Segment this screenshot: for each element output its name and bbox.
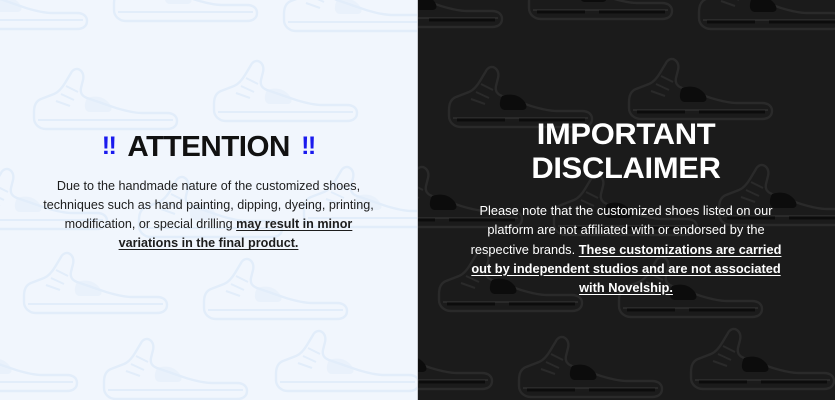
attention-body: Due to the handmade nature of the custom… — [34, 177, 383, 254]
attention-panel: ‼ ATTENTION ‼ Due to the handmade nature… — [0, 0, 417, 400]
double-exclamation-right-icon: ‼ — [301, 134, 315, 159]
attention-content: ‼ ATTENTION ‼ Due to the handmade nature… — [0, 133, 417, 254]
attention-headline-text: ATTENTION — [127, 133, 289, 162]
disclaimer-body: Please note that the customized shoes li… — [459, 201, 793, 297]
double-exclamation-left-icon: ‼ — [102, 134, 116, 159]
attention-headline: ‼ ATTENTION ‼ — [34, 133, 383, 162]
disclaimer-content: IMPORTANT DISCLAIMER Please note that th… — [417, 118, 835, 297]
disclaimer-banner: ‼ ATTENTION ‼ Due to the handmade nature… — [0, 0, 835, 400]
disclaimer-panel: IMPORTANT DISCLAIMER Please note that th… — [417, 0, 835, 400]
disclaimer-headline-line1: IMPORTANT — [454, 118, 798, 152]
disclaimer-headline-line2: DISCLAIMER — [454, 152, 798, 186]
disclaimer-headline: IMPORTANT DISCLAIMER — [459, 118, 793, 185]
panel-divider — [417, 0, 418, 400]
